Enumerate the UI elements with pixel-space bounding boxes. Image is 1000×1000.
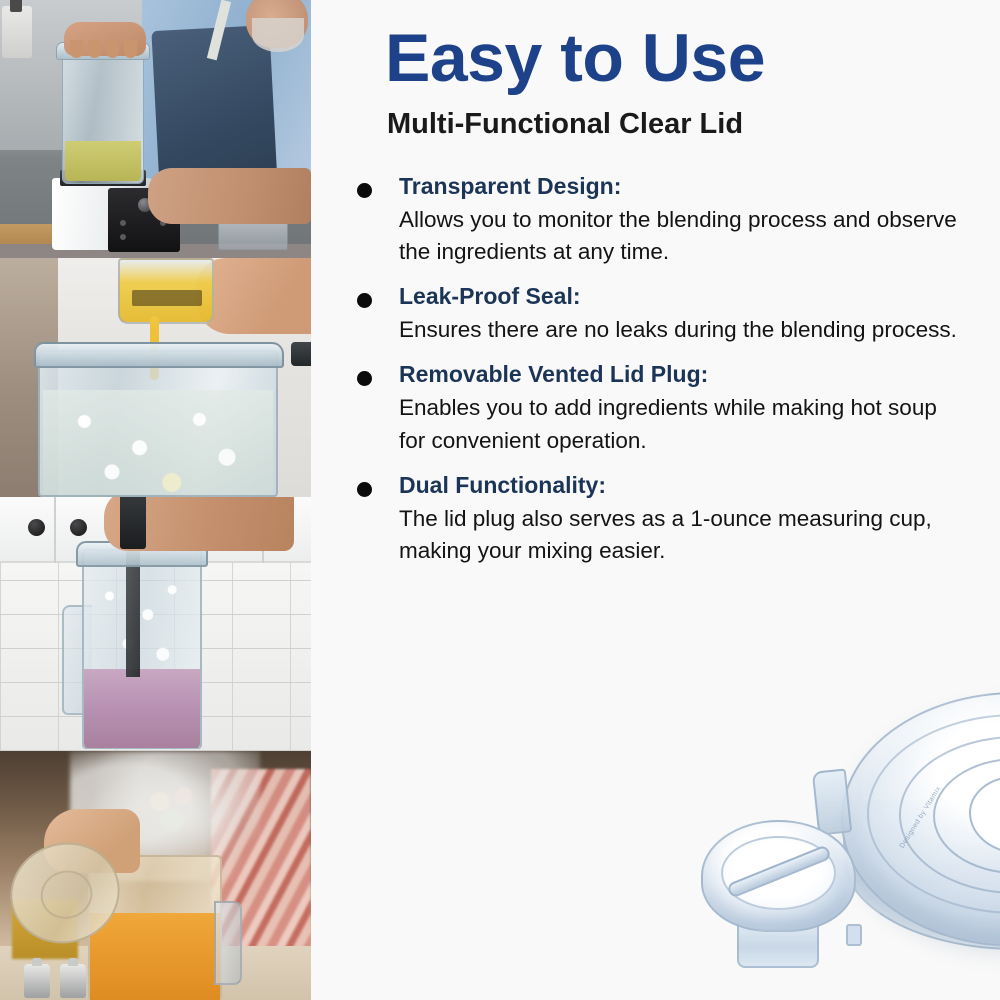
blender-lid: Designed by Vitamix Dishwasher Safe	[841, 692, 1000, 947]
page-title: Easy to Use	[385, 24, 765, 92]
feature-title: Removable Vented Lid Plug:	[399, 358, 973, 391]
page-subtitle: Multi-Functional Clear Lid	[387, 108, 743, 141]
feature-item-leak-proof-seal: Leak-Proof Seal: Ensures there are no le…	[333, 280, 973, 346]
content-panel: Easy to Use Multi-Functional Clear Lid T…	[311, 0, 1000, 1000]
bullet-dot-icon	[357, 371, 372, 386]
feature-title: Transparent Design:	[399, 170, 973, 203]
bullet-dot-icon	[357, 293, 372, 308]
photo-kitchen-blender	[0, 0, 311, 258]
photo-tamper-smoothie	[0, 497, 311, 751]
feature-item-dual-functionality: Dual Functionality: The lid plug also se…	[333, 469, 973, 567]
feature-description: Ensures there are no leaks during the bl…	[399, 314, 969, 346]
feature-title: Dual Functionality:	[399, 469, 973, 502]
feature-description: Allows you to monitor the blending proce…	[399, 204, 969, 269]
product-hero-image: Designed by Vitamix Dishwasher Safe	[691, 672, 1000, 992]
photo-pouring-eggs	[0, 258, 311, 497]
feature-title: Leak-Proof Seal:	[399, 280, 973, 313]
photo-strip	[0, 0, 311, 1000]
photo-hot-soup	[0, 751, 311, 1000]
feature-list: Transparent Design: Allows you to monito…	[333, 170, 973, 579]
feature-item-removable-vented-lid-plug: Removable Vented Lid Plug: Enables you t…	[333, 358, 973, 456]
feature-description: Enables you to add ingredients while mak…	[399, 392, 969, 457]
product-feature-infographic: Easy to Use Multi-Functional Clear Lid T…	[0, 0, 1000, 1000]
bullet-dot-icon	[357, 482, 372, 497]
feature-item-transparent-design: Transparent Design: Allows you to monito…	[333, 170, 973, 268]
bullet-dot-icon	[357, 183, 372, 198]
feature-description: The lid plug also serves as a 1-ounce me…	[399, 503, 969, 568]
removable-lid-plug	[701, 820, 856, 970]
